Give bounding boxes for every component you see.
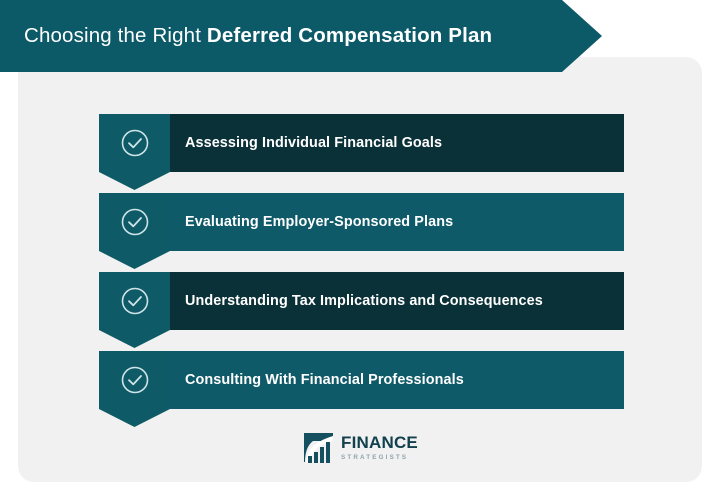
steps-list: Assessing Individual Financial Goals Eva… [99,114,624,409]
page-title: Choosing the Right Deferred Compensation… [0,24,492,48]
logo-wordmark: FINANCE STRATEGISTS [341,434,418,462]
header-banner: Choosing the Right Deferred Compensation… [0,0,602,72]
step-tab [99,114,170,190]
list-item[interactable]: Evaluating Employer-Sponsored Plans [99,193,624,251]
check-circle-icon [120,286,150,316]
check-circle-icon [120,365,150,395]
page-title-light: Choosing the Right [24,24,207,47]
step-label: Assessing Individual Financial Goals [170,135,442,151]
infographic-canvas: Choosing the Right Deferred Compensation… [0,0,720,495]
page-title-bold: Deferred Compensation Plan [207,24,492,47]
step-label: Evaluating Employer-Sponsored Plans [170,214,453,230]
list-item[interactable]: Consulting With Financial Professionals [99,351,624,409]
logo-name: FINANCE [341,434,418,452]
check-circle-icon [120,128,150,158]
step-tab [99,193,170,269]
step-label: Understanding Tax Implications and Conse… [170,293,543,309]
step-label: Consulting With Financial Professionals [170,372,464,388]
step-body: Assessing Individual Financial Goals [170,114,624,172]
logo-subtitle: STRATEGISTS [341,453,418,462]
step-tab [99,272,170,348]
check-circle-icon [120,207,150,237]
finance-strategists-logo-icon [302,432,336,464]
step-body: Evaluating Employer-Sponsored Plans [170,193,624,251]
step-body: Understanding Tax Implications and Conse… [170,272,624,330]
list-item[interactable]: Understanding Tax Implications and Conse… [99,272,624,330]
list-item[interactable]: Assessing Individual Financial Goals [99,114,624,172]
step-body: Consulting With Financial Professionals [170,351,624,409]
brand-logo: FINANCE STRATEGISTS [302,432,418,464]
